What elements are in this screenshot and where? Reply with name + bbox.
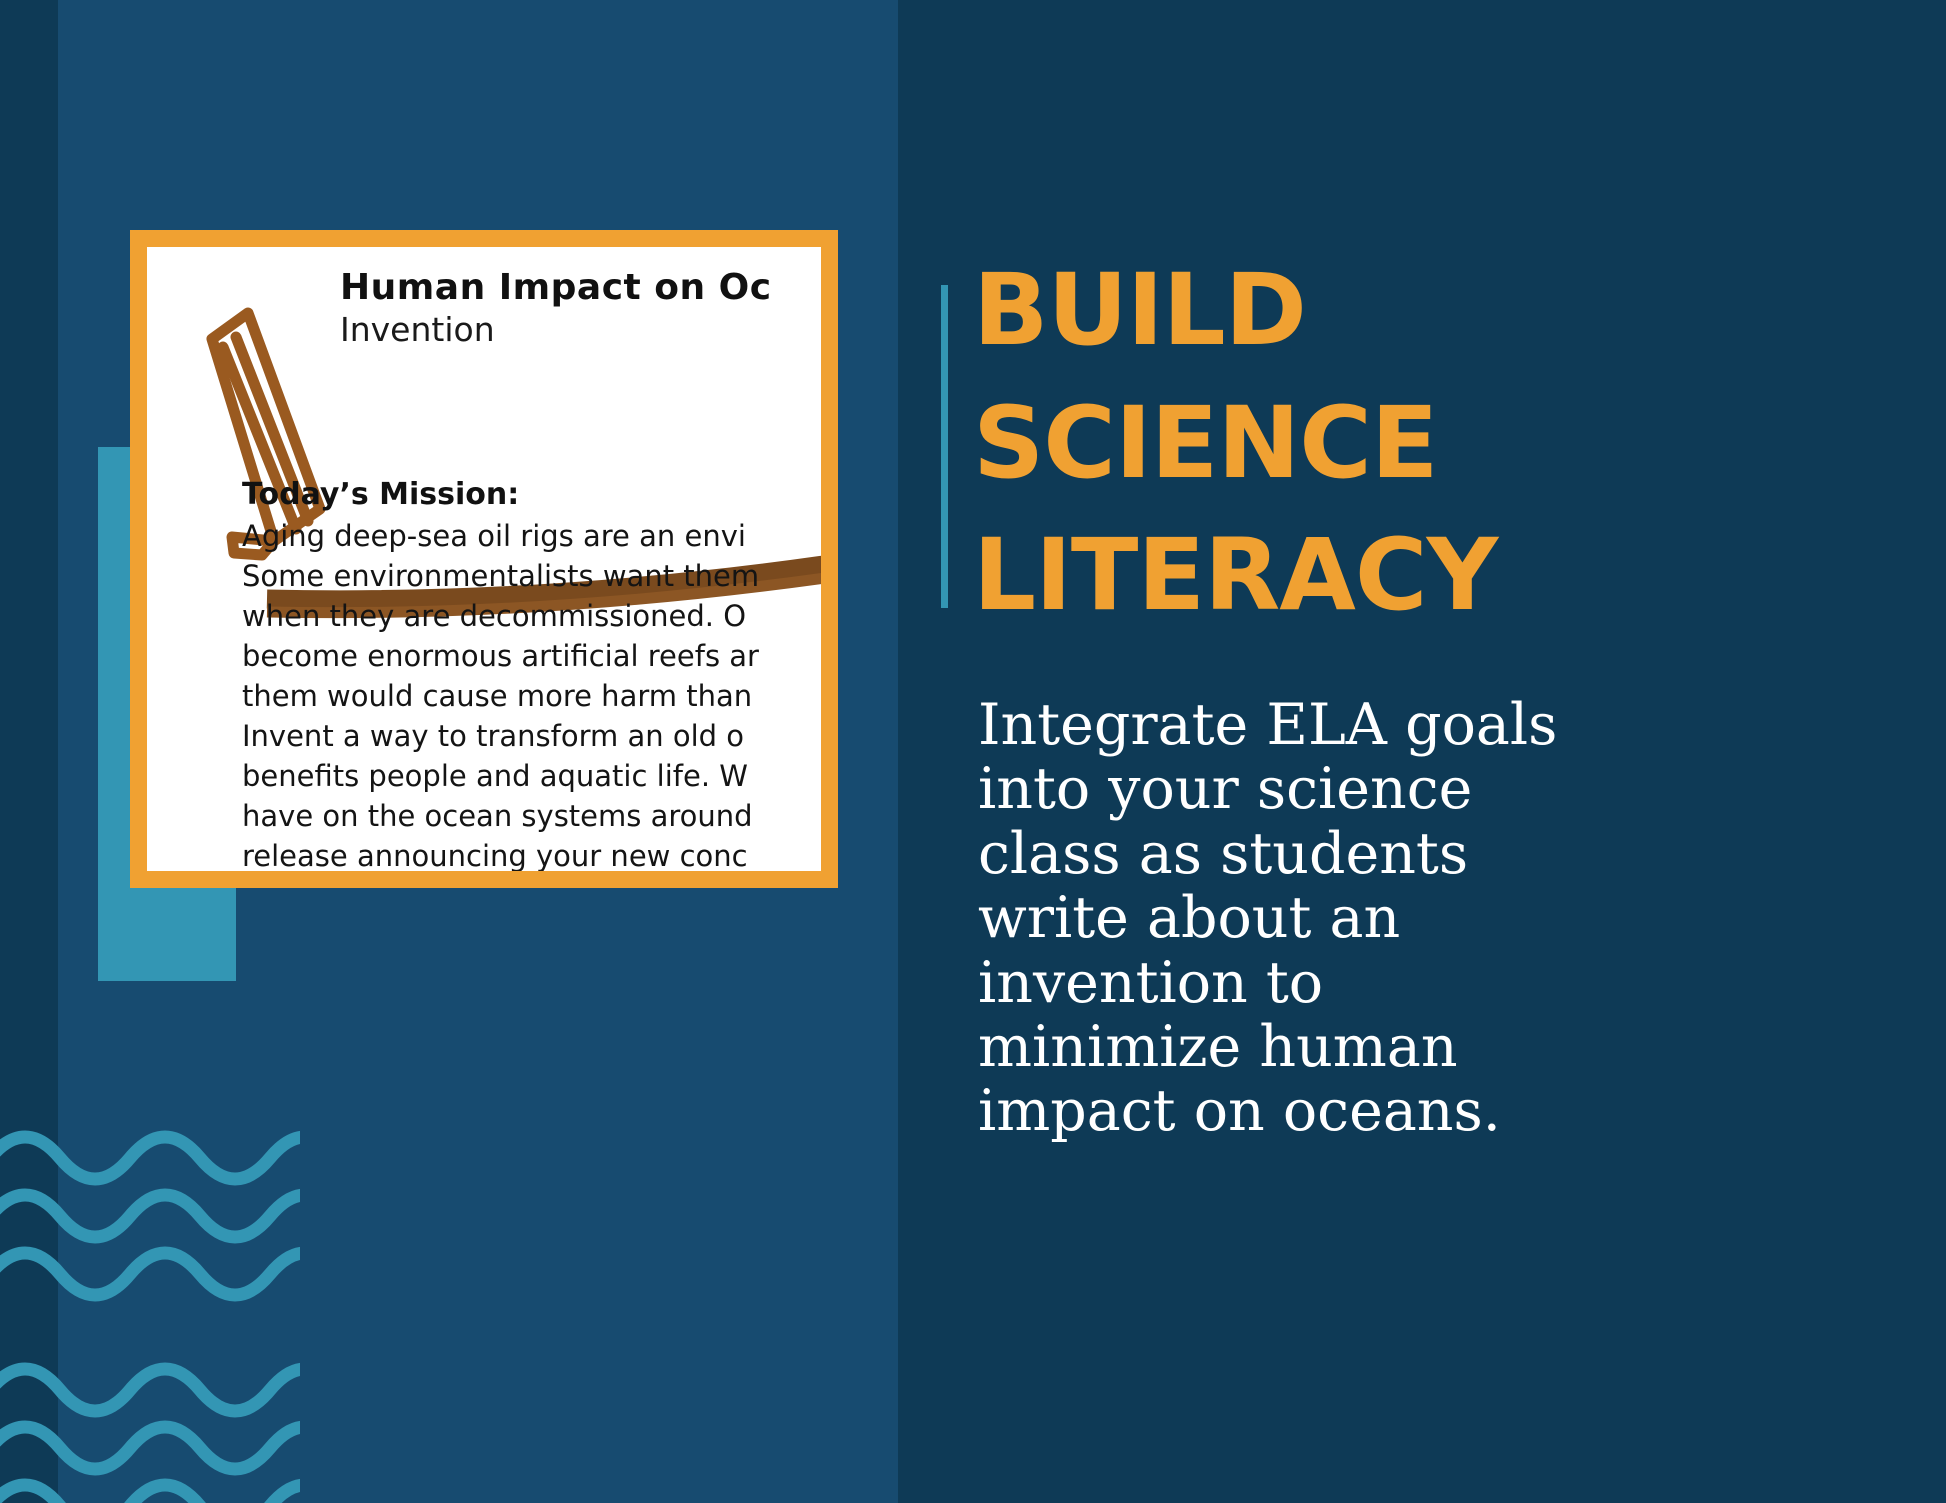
worksheet-preview-card[interactable]: Human Impact on Oc Invention Today’s Mis…: [130, 230, 838, 888]
worksheet-subtitle: Invention: [340, 311, 772, 349]
worksheet-header: Human Impact on Oc Invention: [340, 269, 772, 349]
vertical-accent-line: [941, 285, 948, 608]
worksheet-text-line: benefits people and aquatic life. W: [242, 756, 821, 796]
blurb-line: write about an: [978, 886, 1938, 950]
blurb-line: class as students: [978, 822, 1938, 886]
worksheet-text-line: become enormous artificial reefs ar: [242, 636, 821, 676]
headline-line-3: LITERACY: [973, 510, 1903, 643]
description-paragraph: Integrate ELA goals into your science cl…: [978, 693, 1938, 1144]
page-title: BUILD SCIENCE LITERACY: [973, 245, 1903, 643]
worksheet-text-line: when they are decommissioned. O: [242, 596, 821, 636]
worksheet-text-line: Some environmentalists want them: [242, 556, 821, 596]
headline-line-1: BUILD: [973, 245, 1903, 378]
worksheet-text-line: release announcing your new conc: [242, 836, 821, 871]
mission-label: Today’s Mission:: [242, 477, 821, 512]
worksheet-text-line: have on the ocean systems around: [242, 796, 821, 836]
worksheet-text-line: Invent a way to transform an old o: [242, 716, 821, 756]
worksheet-text-line: them would cause more harm than: [242, 676, 821, 716]
headline-line-2: SCIENCE: [973, 378, 1903, 511]
worksheet-text-line: Aging deep-sea oil rigs are an envi: [242, 516, 821, 556]
worksheet-title: Human Impact on Oc: [340, 269, 772, 307]
worksheet-body: Today’s Mission: Aging deep-sea oil rigs…: [242, 477, 821, 871]
worksheet-page: Human Impact on Oc Invention Today’s Mis…: [147, 247, 821, 871]
ocean-waves-icon: [0, 1118, 300, 1503]
blurb-line: invention to: [978, 951, 1938, 1015]
blurb-line: into your science: [978, 757, 1938, 821]
blurb-line: minimize human: [978, 1015, 1938, 1079]
blurb-line: Integrate ELA goals: [978, 693, 1938, 757]
blurb-line: impact on oceans.: [978, 1079, 1938, 1143]
slide-canvas: Human Impact on Oc Invention Today’s Mis…: [0, 0, 1946, 1503]
